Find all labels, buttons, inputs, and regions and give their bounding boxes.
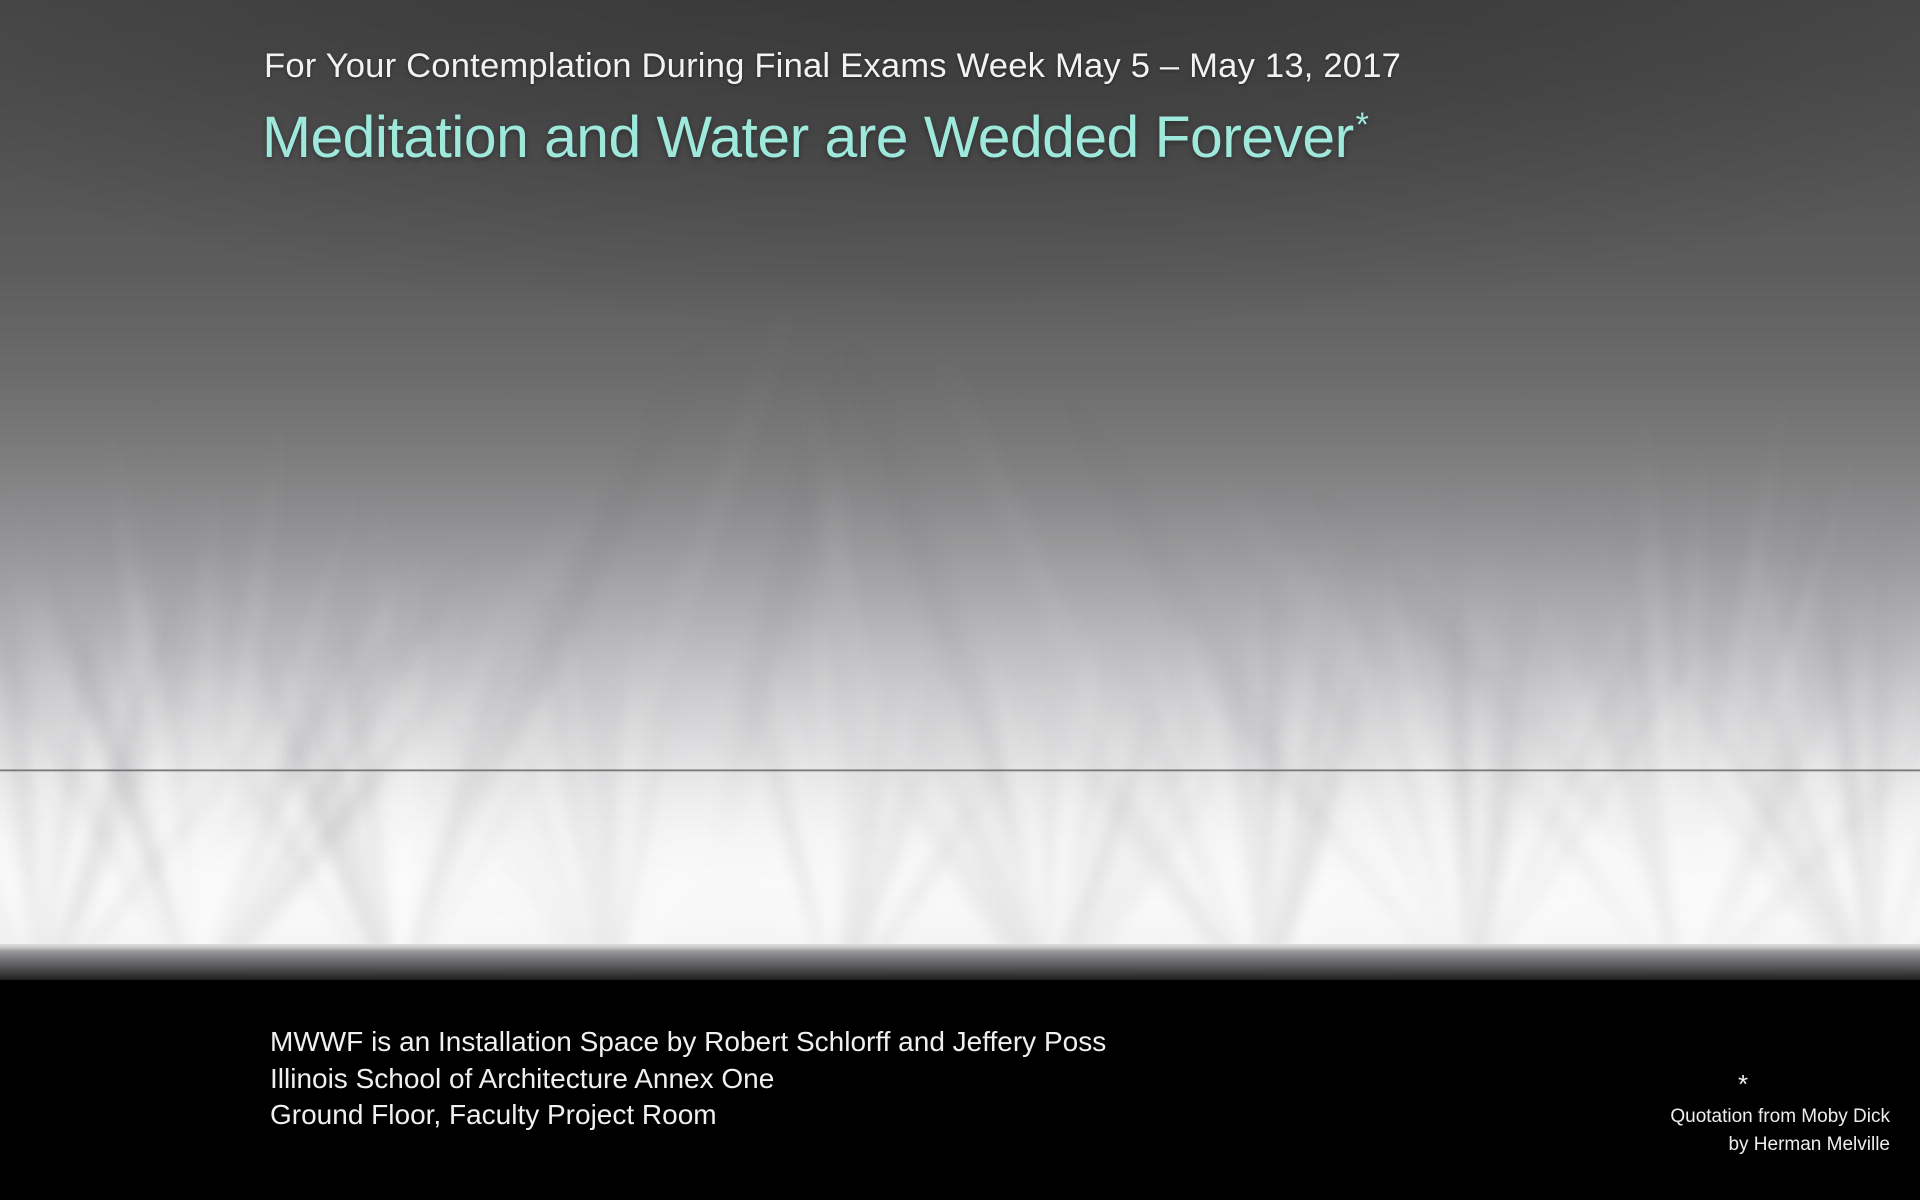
credit-line-school: Illinois School of Architecture Annex On…	[270, 1061, 1106, 1098]
footnote-block: * Quotation from Moby Dick by Herman Mel…	[1450, 1073, 1890, 1159]
page-title: Meditation and Water are Wedded Forever	[262, 105, 1354, 170]
title-footnote-marker: *	[1356, 106, 1369, 145]
credit-line-installation: MWWF is an Installation Space by Robert …	[270, 1024, 1106, 1061]
footnote-source: Quotation from Moby Dick	[1450, 1103, 1890, 1131]
credits-block: MWWF is an Installation Space by Robert …	[270, 1024, 1106, 1134]
poster-subtitle: For Your Contemplation During Final Exam…	[264, 47, 1401, 86]
footnote-author: by Herman Melville	[1450, 1131, 1890, 1159]
baseboard-strip	[0, 944, 1920, 980]
poster-canvas: For Your Contemplation During Final Exam…	[0, 0, 1920, 1200]
wall-seam-line	[0, 769, 1920, 772]
credit-line-location: Ground Floor, Faculty Project Room	[270, 1097, 1106, 1134]
footnote-marker: *	[1450, 1073, 1890, 1095]
poster-title-row: Meditation and Water are Wedded Forever*	[262, 104, 1367, 171]
